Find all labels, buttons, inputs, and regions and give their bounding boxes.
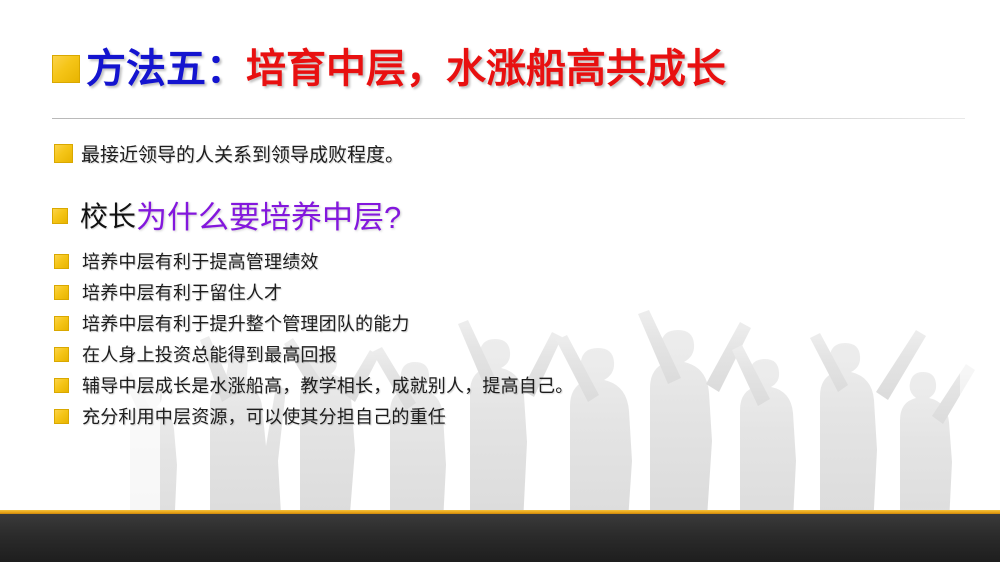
yellow-square-bullet-icon [54,254,69,269]
list-item-label: 在人身上投资总能得到最高回报 [82,341,337,367]
sub-heading: 校长 为什么要培养中层? [52,192,401,237]
yellow-square-bullet-icon [54,347,69,362]
yellow-square-bullet-icon [54,144,73,163]
list-item: 培养中层有利于提升整个管理团队的能力 [54,307,954,338]
list-item: 在人身上投资总能得到最高回报 [54,338,954,369]
yellow-square-bullet-icon [52,208,68,224]
yellow-square-bullet-icon [54,409,69,424]
footer-bar [0,514,1000,562]
slide-title: 方法五： 培育中层，水涨船高共成长 [52,49,726,89]
list-item: 充分利用中层资源，可以使其分担自己的重任 [54,400,954,431]
yellow-square-bullet-icon [54,316,69,331]
list-item: 辅导中层成长是水涨船高，教学相长，成就别人，提高自己。 [54,369,954,400]
title-highlight: 培育中层，水涨船高共成长 [246,49,726,89]
title-divider [52,118,965,119]
sub-heading-question: 为什么要培养中层? [136,192,401,237]
slide-canvas: 方法五： 培育中层，水涨船高共成长 最接近领导的人关系到领导成败程度。 校长 为… [0,0,1000,562]
list-item-label: 培养中层有利于留住人才 [82,279,282,305]
list-item: 培养中层有利于留住人才 [54,276,954,307]
title-method-label: 方法五： [86,49,246,89]
benefit-bullet-list: 培养中层有利于提高管理绩效 培养中层有利于留住人才 培养中层有利于提升整个管理团… [54,245,954,431]
list-item-label: 辅导中层成长是水涨船高，教学相长，成就别人，提高自己。 [82,372,573,398]
list-item-label: 充分利用中层资源，可以使其分担自己的重任 [82,403,446,429]
lead-statement-text: 最接近领导的人关系到领导成败程度。 [81,140,404,167]
yellow-square-bullet-icon [54,378,69,393]
sub-heading-prefix: 校长 [80,195,136,235]
yellow-square-bullet-icon [54,285,69,300]
lead-statement: 最接近领导的人关系到领导成败程度。 [54,140,404,167]
list-item: 培养中层有利于提高管理绩效 [54,245,954,276]
list-item-label: 培养中层有利于提高管理绩效 [82,248,319,274]
list-item-label: 培养中层有利于提升整个管理团队的能力 [82,310,410,336]
yellow-square-bullet-icon [52,55,80,83]
